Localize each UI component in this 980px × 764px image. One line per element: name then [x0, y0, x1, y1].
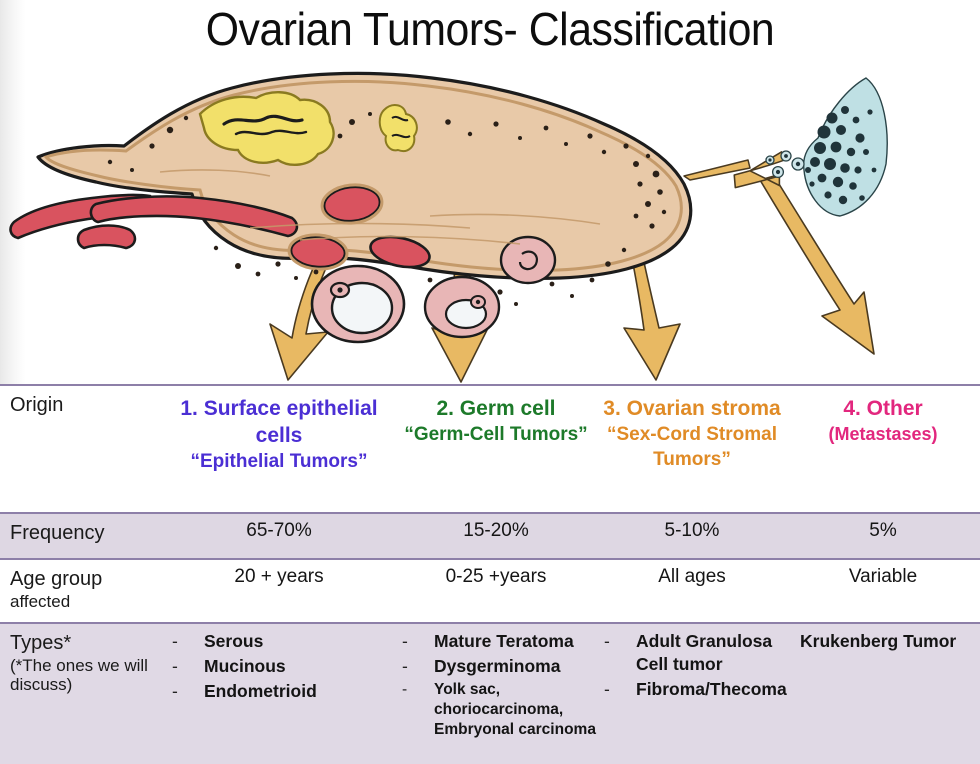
column-header-stroma: 3. Ovarian stroma “Sex-Cord Stromal Tumo… [596, 396, 788, 472]
age-other: Variable [790, 566, 976, 589]
type-item: -Dysgerminoma [398, 655, 598, 678]
age-germcell: 0-25 +years [398, 566, 594, 589]
age-epithelial: 20 + years [168, 566, 390, 589]
type-item-label: Adult Granulosa Cell tumor [636, 631, 772, 674]
types-list-epithelial: -Serous-Mucinous-Endometrioid [168, 630, 393, 705]
frequency-epithelial: 65-70% [168, 520, 390, 543]
col4-origin-main: 4. Other [843, 397, 922, 420]
bullet-dash-icon: - [604, 630, 610, 653]
type-item: -Mature Teratoma [398, 630, 598, 653]
type-item-label: Serous [204, 631, 263, 651]
table-row-types: Types* (*The ones we will discuss) -Sero… [0, 622, 980, 764]
bullet-dash-icon: - [604, 678, 610, 701]
type-item: -Adult Granulosa Cell tumor [600, 630, 790, 676]
type-item-label: Krukenberg Tumor [800, 631, 956, 651]
col1-origin-quoted: “Epithelial Tumors” [168, 450, 390, 475]
type-item-label: Dysgerminoma [434, 656, 560, 676]
type-item: Krukenberg Tumor [800, 630, 975, 653]
table-row-origin: Origin 1. Surface epithelial cells “Epit… [0, 384, 980, 512]
row-label-age-group: Age group affected [10, 568, 160, 611]
type-item: -Mucinous [168, 655, 393, 678]
row-label-age-main: Age group [10, 568, 102, 590]
row-label-types-sub: (*The ones we will discuss) [10, 656, 160, 695]
table-row-frequency: Frequency 65-70% 15-20% 5-10% 5% [0, 512, 980, 558]
col4-origin-quoted: (Metastases) [790, 423, 976, 446]
type-item-label: Mucinous [204, 656, 286, 676]
row-label-age-sub: affected [10, 592, 160, 612]
row-label-frequency: Frequency [10, 522, 160, 546]
column-header-other: 4. Other (Metastases) [790, 396, 976, 446]
type-item-label: Yolk sac, choriocarcinoma, Embryonal car… [434, 681, 596, 738]
type-item-label: Fibroma/Thecoma [636, 679, 787, 699]
table-row-age-group: Age group affected 20 + years 0-25 +year… [0, 558, 980, 622]
type-item: -Serous [168, 630, 393, 653]
type-item-label: Endometrioid [204, 681, 317, 701]
classification-table: Origin 1. Surface epithelial cells “Epit… [0, 384, 980, 764]
row-label-types: Types* (*The ones we will discuss) [10, 632, 160, 695]
bullet-dash-icon: - [402, 680, 407, 700]
col2-origin-main: 2. Germ cell [436, 397, 555, 420]
frequency-stroma: 5-10% [596, 520, 788, 543]
col3-origin-main: 3. Ovarian stroma [603, 397, 780, 420]
ovary-body [11, 73, 691, 342]
column-header-epithelial: 1. Surface epithelial cells “Epithelial … [168, 396, 390, 474]
types-list-germcell: -Mature Teratoma-Dysgerminoma-Yolk sac, … [398, 630, 598, 742]
bullet-dash-icon: - [402, 630, 408, 653]
bullet-dash-icon: - [402, 655, 408, 678]
age-stroma: All ages [596, 566, 788, 589]
type-item: -Endometrioid [168, 680, 393, 703]
row-label-types-main: Types* [10, 632, 71, 654]
col3-origin-quoted: “Sex-Cord Stromal Tumors” [596, 423, 788, 472]
col2-origin-quoted: “Germ-Cell Tumors” [398, 423, 594, 448]
bullet-dash-icon: - [172, 680, 178, 703]
frequency-germcell: 15-20% [398, 520, 594, 543]
frequency-other: 5% [790, 520, 976, 543]
page-title: Ovarian Tumors- Classification [34, 2, 945, 56]
type-item: -Yolk sac, choriocarcinoma, Embryonal ca… [398, 680, 598, 739]
row-label-origin: Origin [10, 394, 160, 418]
types-list-stroma: -Adult Granulosa Cell tumor-Fibroma/Thec… [600, 630, 790, 703]
types-list-other: Krukenberg Tumor [800, 630, 975, 655]
column-header-germcell: 2. Germ cell “Germ-Cell Tumors” [398, 396, 594, 448]
bullet-dash-icon: - [172, 630, 178, 653]
type-item: -Fibroma/Thecoma [600, 678, 790, 701]
col1-origin-main: 1. Surface epithelial cells [180, 397, 377, 447]
bullet-dash-icon: - [172, 655, 178, 678]
type-item-label: Mature Teratoma [434, 631, 574, 651]
slide-root: Ovarian Tumors- Classification [0, 0, 980, 764]
ovary-diagram [0, 52, 980, 387]
